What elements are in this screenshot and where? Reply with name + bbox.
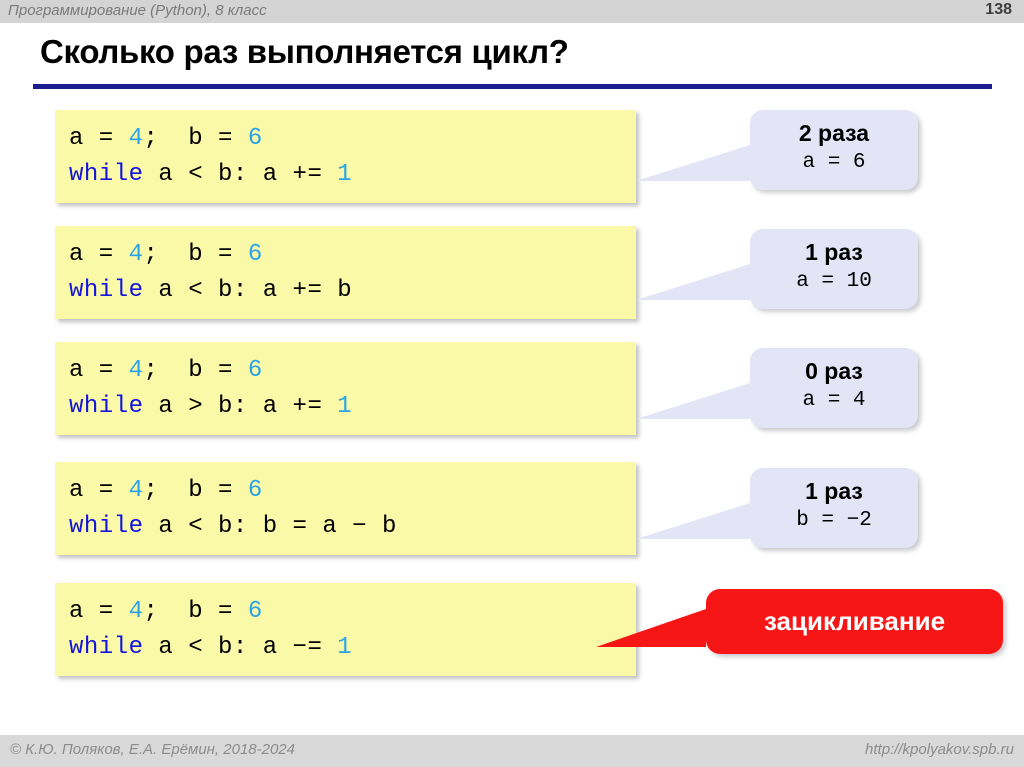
callout-tail-pointer bbox=[636, 374, 750, 419]
infinite-loop-label: зацикливание bbox=[764, 606, 945, 637]
code-number: 1 bbox=[337, 634, 352, 661]
code-text: a < b: a += b bbox=[144, 277, 353, 304]
code-number: 6 bbox=[248, 241, 263, 268]
footer-url[interactable]: http://kpolyakov.spb.ru bbox=[865, 741, 1014, 758]
code-keyword: while bbox=[69, 393, 144, 420]
code-number: 1 bbox=[337, 161, 352, 188]
code-number: 6 bbox=[248, 477, 263, 504]
code-line: while a > b: a += 1 bbox=[69, 389, 636, 425]
code-line: while a < b: a += b bbox=[69, 273, 636, 309]
code-block: a = 4; b = 6while a > b: a += 1 bbox=[55, 342, 636, 435]
code-keyword: while bbox=[69, 513, 144, 540]
code-number: 4 bbox=[129, 357, 144, 384]
code-line: while a < b: b = a − b bbox=[69, 509, 636, 545]
code-text: a = bbox=[69, 357, 129, 384]
callout-result-value: b = −2 bbox=[750, 506, 918, 536]
code-text: a = bbox=[69, 477, 129, 504]
infinite-loop-callout-tail-pointer bbox=[596, 603, 706, 647]
code-number: 1 bbox=[337, 393, 352, 420]
code-number: 6 bbox=[248, 357, 263, 384]
code-text: a < b: a += bbox=[144, 161, 338, 188]
code-text: a = bbox=[69, 241, 129, 268]
answer-callout: 1 разa = 10 bbox=[750, 229, 918, 309]
page-title: Сколько раз выполняется цикл? bbox=[40, 33, 569, 71]
code-line: a = 4; b = 6 bbox=[69, 353, 636, 389]
code-block: a = 4; b = 6while a < b: a += b bbox=[55, 226, 636, 319]
code-text: ; b = bbox=[144, 598, 248, 625]
code-keyword: while bbox=[69, 634, 144, 661]
code-line: a = 4; b = 6 bbox=[69, 121, 636, 157]
code-keyword: while bbox=[69, 161, 144, 188]
code-number: 4 bbox=[129, 598, 144, 625]
title-underline-rule bbox=[33, 84, 992, 89]
code-text: ; b = bbox=[144, 125, 248, 152]
footer-copyright: © К.Ю. Поляков, Е.А. Ерёмин, 2018-2024 bbox=[10, 741, 295, 758]
code-line: a = 4; b = 6 bbox=[69, 237, 636, 273]
code-line: a = 4; b = 6 bbox=[69, 473, 636, 509]
slide-page-number: 138 bbox=[985, 1, 1012, 19]
callout-tail-pointer bbox=[636, 255, 750, 300]
callout-result-value: a = 10 bbox=[750, 267, 918, 297]
header-bar: Программирование (Python), 8 класс 138 bbox=[0, 0, 1024, 23]
code-number: 6 bbox=[248, 598, 263, 625]
code-text: a = bbox=[69, 125, 129, 152]
callout-tail-pointer bbox=[636, 494, 750, 539]
code-text: ; b = bbox=[144, 357, 248, 384]
callout-iteration-count: 0 раз bbox=[750, 356, 918, 386]
callout-iteration-count: 1 раз bbox=[750, 237, 918, 267]
code-text: a < b: a −= bbox=[144, 634, 338, 661]
callout-tail-pointer bbox=[636, 136, 750, 181]
code-line: while a < b: a += 1 bbox=[69, 157, 636, 193]
code-block: a = 4; b = 6while a < b: a += 1 bbox=[55, 110, 636, 203]
answer-callout: 0 разa = 4 bbox=[750, 348, 918, 428]
callout-iteration-count: 2 раза bbox=[750, 118, 918, 148]
code-line: a = 4; b = 6 bbox=[69, 594, 636, 630]
infinite-loop-callout: зацикливание bbox=[706, 589, 1003, 654]
callout-iteration-count: 1 раз bbox=[750, 476, 918, 506]
code-line: while a < b: a −= 1 bbox=[69, 630, 636, 666]
footer-bar: © К.Ю. Поляков, Е.А. Ерёмин, 2018-2024 h… bbox=[0, 735, 1024, 767]
code-number: 4 bbox=[129, 241, 144, 268]
callout-result-value: a = 4 bbox=[750, 386, 918, 416]
code-block: a = 4; b = 6while a < b: a −= 1 bbox=[55, 583, 636, 676]
header-course-title: Программирование (Python), 8 класс bbox=[8, 2, 267, 19]
code-text: a < b: b = a − b bbox=[144, 513, 397, 540]
code-text: a > b: a += bbox=[144, 393, 338, 420]
code-text: a = bbox=[69, 598, 129, 625]
code-number: 4 bbox=[129, 477, 144, 504]
code-number: 4 bbox=[129, 125, 144, 152]
code-block: a = 4; b = 6while a < b: b = a − b bbox=[55, 462, 636, 555]
code-text: ; b = bbox=[144, 241, 248, 268]
code-number: 6 bbox=[248, 125, 263, 152]
code-keyword: while bbox=[69, 277, 144, 304]
slide-root: Программирование (Python), 8 класс 138 С… bbox=[0, 0, 1024, 767]
answer-callout: 1 разb = −2 bbox=[750, 468, 918, 548]
answer-callout: 2 разаa = 6 bbox=[750, 110, 918, 190]
callout-result-value: a = 6 bbox=[750, 148, 918, 178]
code-text: ; b = bbox=[144, 477, 248, 504]
